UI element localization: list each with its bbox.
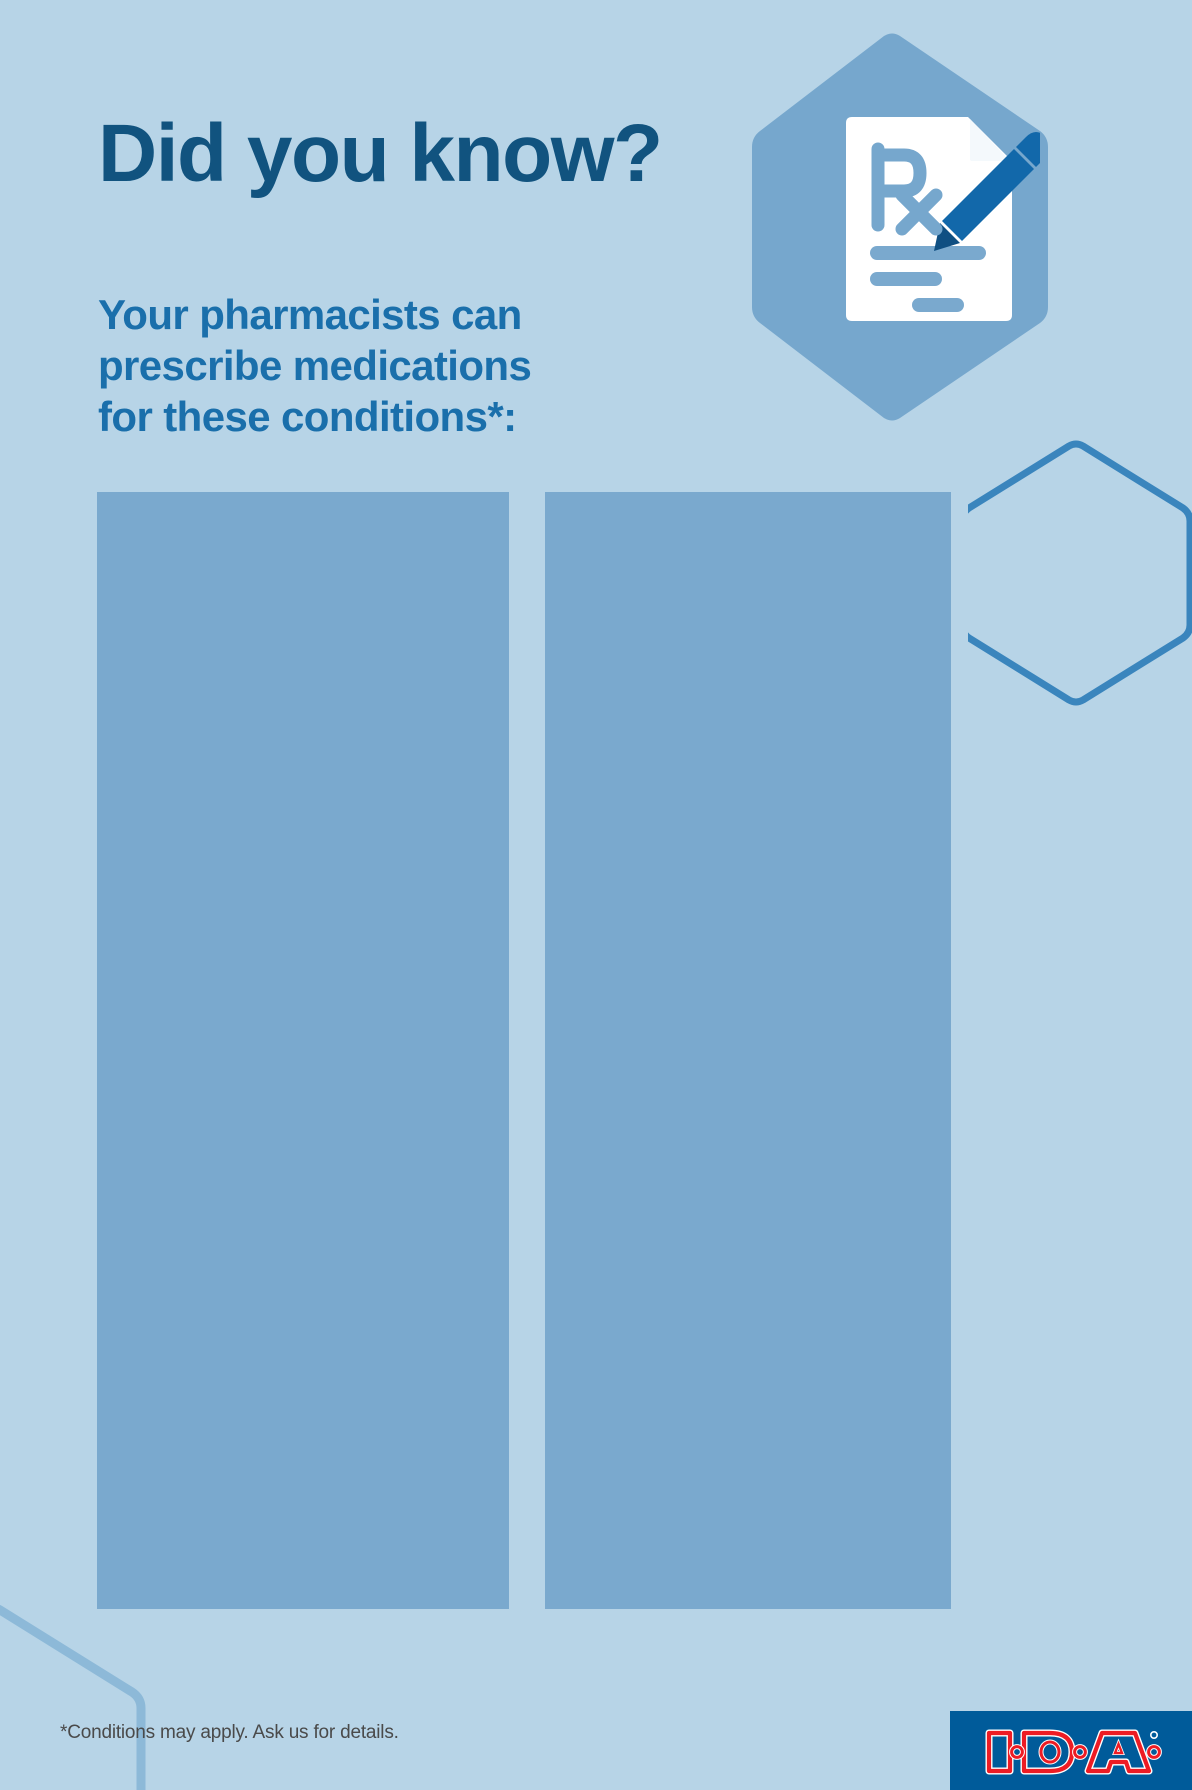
subtitle-line-3: for these conditions*: [98,391,531,442]
subtitle-line-2: prescribe medications [98,340,531,391]
page-subtitle: Your pharmacists can prescribe medicatio… [98,289,531,443]
footnote-disclaimer: *Conditions may apply. Ask us for detail… [60,1722,399,1744]
hexagon-outline-icon [0,1600,150,1790]
subtitle-line-1: Your pharmacists can [98,289,531,340]
prescription-document-pencil-icon [840,115,1040,327]
ida-logo [950,1711,1192,1790]
ida-logo-icon [984,1727,1162,1777]
poster-canvas: Did you know? Your pharmacists can presc… [0,0,1192,1790]
conditions-panel-left [97,492,509,1609]
page-title: Did you know? [98,112,662,196]
hexagon-outline-icon [968,438,1192,708]
conditions-panel-right [545,492,951,1609]
